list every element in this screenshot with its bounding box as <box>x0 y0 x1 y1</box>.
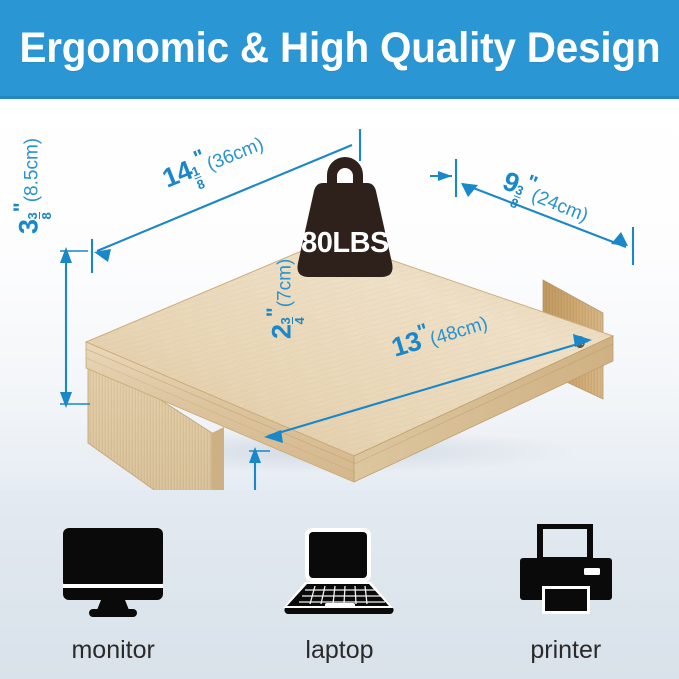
dimension-label-total-height: 338"(8.5cm) <box>10 99 53 234</box>
use-case-label-printer: printer <box>530 636 601 665</box>
use-case-monitor: monitor <box>13 516 213 665</box>
weight-badge-label: 80LBS <box>283 227 407 260</box>
use-case-laptop: laptop <box>239 516 439 665</box>
weight-icon <box>283 139 407 287</box>
use-case-panel: monitor <box>0 490 679 679</box>
monitor-icon <box>59 516 167 620</box>
product-stage: 1418"(36cm) 938"(24cm) 338"(8.5cm) 234"(… <box>0 99 679 490</box>
infographic-page: Ergonomic & High Quality Design <box>0 0 679 679</box>
use-case-printer: printer <box>466 516 666 665</box>
use-case-label-laptop: laptop <box>305 636 373 665</box>
weight-badge: 80LBS <box>283 139 407 287</box>
use-case-label-monitor: monitor <box>71 636 154 665</box>
header-banner: Ergonomic & High Quality Design <box>0 0 679 99</box>
printer-icon <box>512 516 620 620</box>
laptop-icon <box>281 516 397 620</box>
banner-title: Ergonomic & High Quality Design <box>19 24 660 73</box>
